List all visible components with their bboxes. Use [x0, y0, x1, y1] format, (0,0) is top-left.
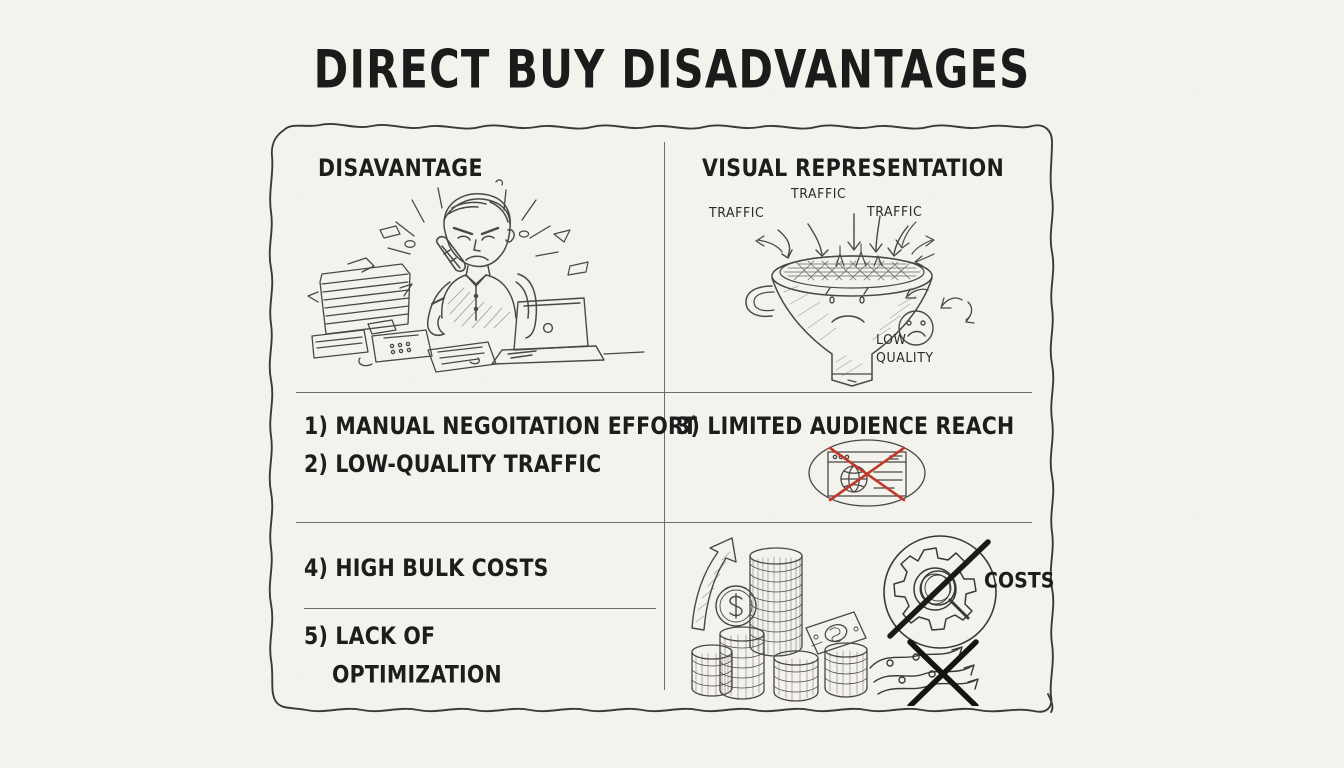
divider-horizontal-item4: [304, 608, 656, 609]
list-item-1-text: 1) MANUAL NEGOITATION EFFORT: [304, 412, 697, 440]
page-title: DIRECT BUY DISADVANTAGES: [20, 40, 1324, 101]
divider-horizontal-middle: [296, 522, 1032, 523]
funnel-low-quality-label-line1: LOW: [876, 331, 907, 347]
list-item-5-continuation: OPTIMIZATION: [304, 660, 502, 688]
funnel-traffic-label-left: TRAFFIC: [709, 204, 764, 220]
rising-money-stacks-sketch: [680, 530, 872, 706]
list-item-1: 1) MANUAL NEGOITATION EFFORT: [304, 412, 697, 440]
list-item-5-text: 5) LACK OF: [304, 622, 435, 650]
list-item-2-text: 2) LOW-QUALITY TRAFFIC: [304, 450, 601, 478]
list-item-2: 2) LOW-QUALITY TRAFFIC: [304, 450, 601, 478]
funnel-traffic-label-top: TRAFFIC: [791, 185, 846, 201]
column-header-visual-representation: VISUAL REPRESENTATION: [702, 154, 1004, 182]
frustrated-office-worker-sketch: [292, 178, 652, 390]
list-item-5: 5) LACK OF OPTIMIZATION: [304, 622, 502, 688]
content-frame: DISAVANTAGE VISUAL REPRESENTATION: [262, 116, 1062, 720]
funnel-traffic-label-right: TRAFFIC: [867, 203, 922, 219]
costs-label: COSTS: [984, 568, 1054, 593]
blocked-browser-globe-sketch: [792, 434, 942, 512]
list-item-4-text: 4) HIGH BULK COSTS: [304, 554, 549, 582]
no-optimization-gear-sketch: [864, 530, 1040, 706]
list-item-4: 4) HIGH BULK COSTS: [304, 554, 549, 582]
divider-horizontal-top: [296, 392, 1032, 393]
funnel-low-quality-label-line2: QUALITY: [876, 349, 934, 365]
